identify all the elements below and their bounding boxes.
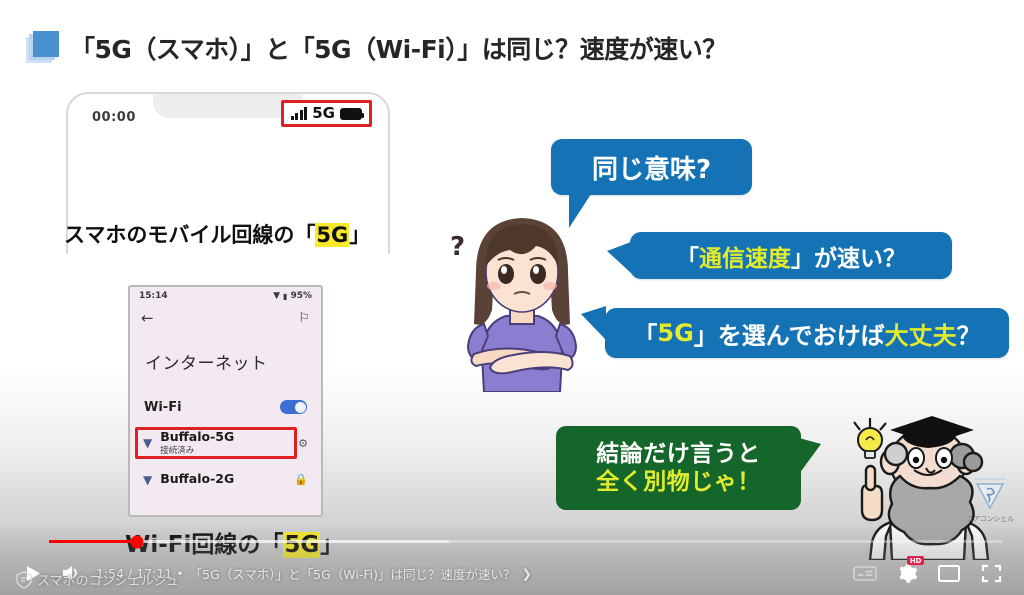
bubble-3-text-a: 「 — [633, 316, 657, 351]
speech-bubble-choose-5g: 「5G」を選んでおけば大丈夫？ — [605, 308, 1009, 358]
status-bar-5g-highlight: 5G — [281, 100, 372, 127]
lightbulb-icon — [854, 418, 886, 458]
android-nav-bar: ← ⚐ — [130, 305, 321, 331]
quality-badge: HD — [907, 556, 924, 565]
speech-bubble-speed: 「通信速度」が速い？ — [630, 232, 952, 279]
page-title-text: 「5G（スマホ）」と「5G（Wi-Fi）」は同じ？速度が速い？ — [70, 30, 727, 66]
wifi-network-name: Buffalo-5G — [160, 430, 234, 444]
android-status-time: 15:14 — [139, 291, 168, 301]
controls-right-group: HD — [846, 554, 1010, 592]
blue-square-bullet-icon — [26, 31, 60, 65]
fullscreen-icon[interactable] — [972, 554, 1010, 592]
page-title: 「5G（スマホ）」と「5G（Wi-Fi）」は同じ？速度が速い？ — [26, 30, 727, 66]
watermark-text: コアコンシェル — [966, 514, 1014, 524]
mobile-caption-highlight: 5G — [315, 223, 349, 247]
gear-icon[interactable] — [897, 563, 918, 584]
bubble-3-text-highlight: 5G — [657, 319, 693, 347]
wifi-icon: ▼ — [273, 291, 280, 301]
gear-icon[interactable]: ⚙ — [298, 437, 308, 450]
bubble-1-text: 同じ意味? — [592, 149, 711, 186]
mobile-caption-suffix: 」 — [349, 223, 370, 247]
bubble-3-text-b: 」を選んでおけば — [694, 316, 885, 351]
android-internet-settings-mockup: 15:14 ▼ ▮ 95% ← ⚐ インターネット Wi-Fi ▼ Buffal… — [128, 285, 323, 517]
video-player-stage: 「5G（スマホ）」と「5G（Wi-Fi）」は同じ？速度が速い？ 00:00 5G… — [0, 0, 1024, 595]
progress-played — [49, 540, 137, 543]
wifi-icon: ▼ — [143, 437, 152, 449]
wifi-toggle-switch[interactable] — [280, 400, 307, 414]
battery-full-icon — [340, 108, 362, 120]
back-arrow-icon[interactable]: ← — [141, 311, 154, 326]
channel-watermark: スマホのコンシェルジュ — [16, 570, 179, 589]
settings-button[interactable]: HD — [888, 554, 926, 592]
phone-status-time: 00:00 — [92, 110, 136, 125]
chapter-title-row[interactable]: • 「5G（スマホ）」と「5G（Wi-Fi)」は同じ？速度が速い？ ❯ — [176, 564, 532, 583]
chevron-right-icon[interactable]: ❯ — [522, 566, 532, 581]
wifi-network-row-buffalo-2g[interactable]: ▼ Buffalo-2G 🔒 — [130, 468, 321, 490]
channel-logo-icon — [16, 571, 32, 589]
channel-name: スマホのコンシェルジュ — [37, 570, 179, 589]
wifi-network-name: Buffalo-2G — [160, 472, 234, 486]
android-battery-percent: 95% — [290, 291, 312, 301]
wifi-icon: ▼ — [143, 474, 152, 486]
core-concier-logo — [973, 476, 1007, 514]
progress-scrubber[interactable] — [130, 535, 143, 548]
signal-icon: ▮ — [283, 292, 287, 301]
conclusion-line-1: 結論だけ言うと — [596, 440, 761, 468]
android-screen-title: インターネット — [145, 349, 321, 374]
mobile-5g-caption: スマホのモバイル回線の「5G」 — [64, 219, 370, 249]
conclusion-line-2: 全く別物じゃ！ — [596, 468, 761, 496]
headset-icon[interactable]: ⚐ — [298, 312, 310, 325]
lock-icon[interactable]: 🔒 — [294, 473, 308, 486]
bubble-2-text-highlight: 通信速度 — [699, 239, 791, 273]
speech-bubble-same-meaning: 同じ意味? — [551, 139, 752, 195]
signal-bars-icon — [291, 107, 308, 120]
network-type-label: 5G — [312, 106, 335, 121]
bubble-2-text-a: 「 — [676, 239, 699, 273]
miniplayer-icon[interactable] — [930, 554, 968, 592]
wifi-toggle-row[interactable]: Wi-Fi — [130, 394, 321, 420]
bubble-2-text-b: 」が速い？ — [791, 239, 906, 273]
puzzled-girl-illustration — [432, 206, 612, 392]
wifi-network-row-buffalo-5g[interactable]: ▼ Buffalo-5G 接続済み ⚙ — [130, 426, 321, 460]
core-concier-watermark: コアコンシェル — [962, 462, 1018, 524]
wifi-network-status: 接続済み — [160, 444, 234, 456]
wifi-label: Wi-Fi — [144, 400, 182, 415]
bubble-3-text-highlight-2: 大丈夫 — [885, 316, 957, 351]
bubble-3-text-c: ？ — [957, 316, 981, 351]
progress-bar[interactable] — [49, 540, 1002, 543]
android-status-bar: 15:14 ▼ ▮ 95% — [130, 287, 321, 305]
mobile-caption-prefix: スマホのモバイル回線の「 — [64, 223, 315, 247]
subtitles-icon[interactable] — [846, 554, 884, 592]
conclusion-bubble: 結論だけ言うと 全く別物じゃ！ — [556, 426, 801, 510]
chapter-title: 「5G（スマホ）」と「5G（Wi-Fi)」は同じ？速度が速い？ — [190, 564, 516, 583]
